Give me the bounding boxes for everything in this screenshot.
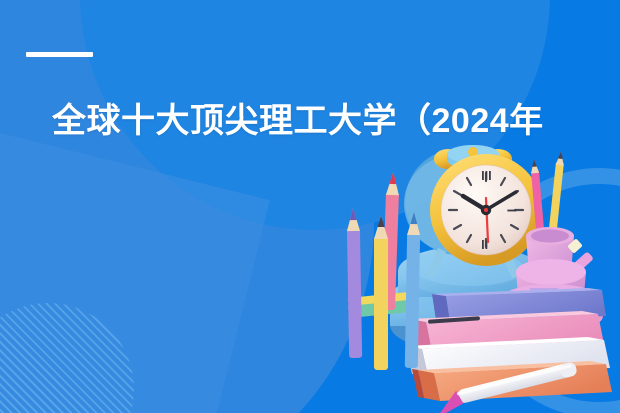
title-accent-dash (26, 52, 93, 57)
pencil-yellow (374, 216, 388, 370)
page-title: 全球十大顶尖理工大学（2024年 (52, 99, 612, 143)
pencil-blue (405, 212, 421, 368)
cup-pencil-yellow (548, 151, 565, 240)
pencil-purple (347, 208, 363, 358)
desk-supplies-illustration (330, 140, 620, 413)
article-cover-banner: 全球十大顶尖理工大学（2024年 (0, 0, 620, 413)
